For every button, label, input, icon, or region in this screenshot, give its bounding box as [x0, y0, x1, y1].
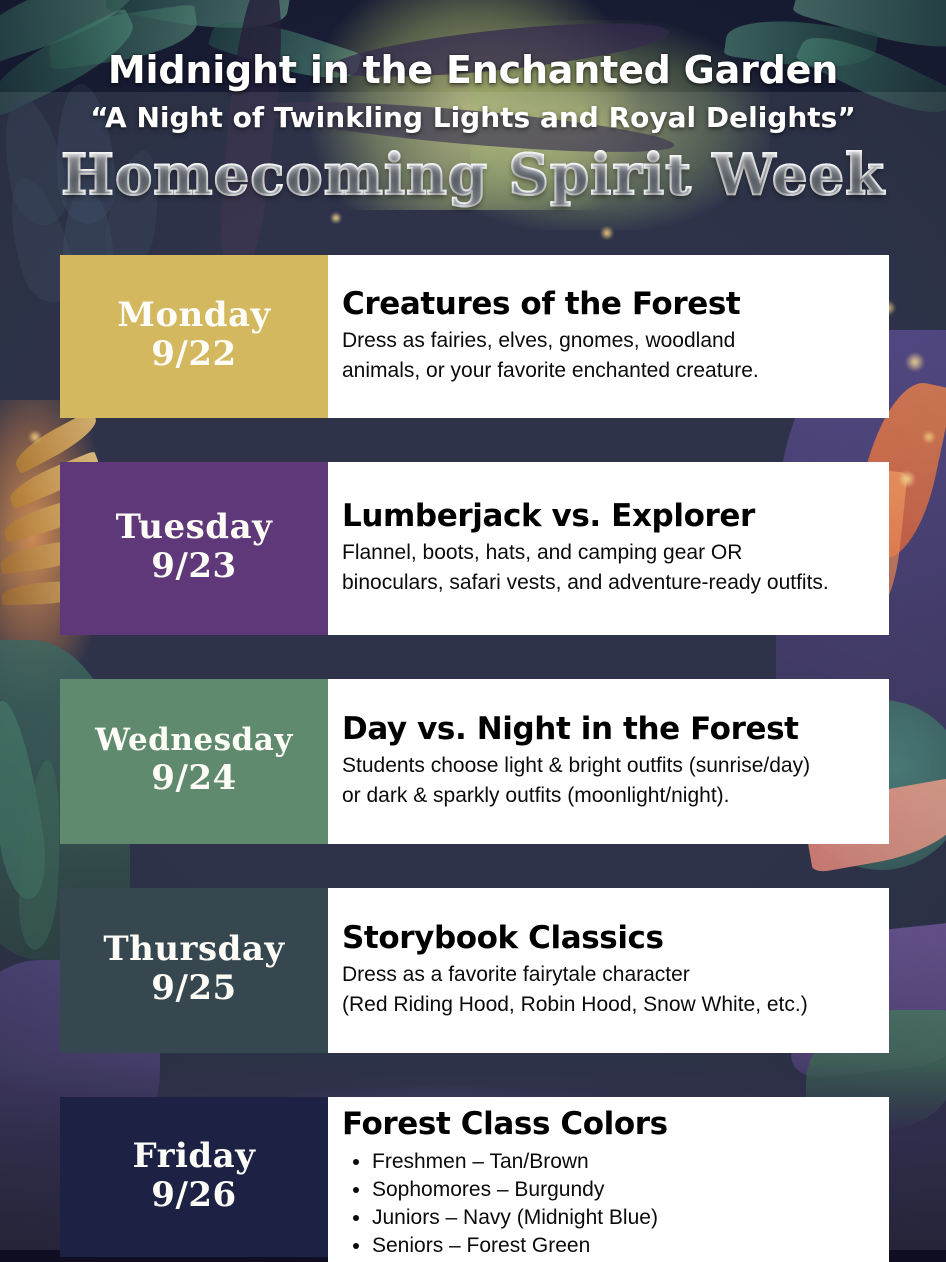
day-label-friday: Friday 9/26	[60, 1097, 328, 1257]
day-details-panel: Day vs. Night in the Forest Students cho…	[328, 679, 889, 844]
spirit-week-schedule: Monday 9/22 Creatures of the Forest Dres…	[60, 255, 889, 1262]
list-item: Freshmen – Tan/Brown	[372, 1148, 871, 1176]
day-date: 9/25	[151, 967, 236, 1010]
day-label-monday: Monday 9/22	[60, 255, 328, 418]
day-date: 9/23	[151, 545, 236, 588]
theme-description-line: binoculars, safari vests, and adventure-…	[342, 568, 871, 598]
day-name: Friday	[133, 1138, 256, 1174]
theme-title: Forest Class Colors	[342, 1107, 871, 1142]
day-name: Thursday	[103, 931, 284, 967]
theme-description-line: Dress as fairies, elves, gnomes, woodlan…	[342, 326, 871, 356]
list-item: Juniors – Navy (Midnight Blue)	[372, 1204, 871, 1232]
poster-title: Midnight in the Enchanted Garden	[0, 0, 946, 92]
theme-description-line: Students choose light & bright outfits (…	[342, 751, 871, 781]
theme-description-line: (Red Riding Hood, Robin Hood, Snow White…	[342, 990, 871, 1020]
day-details-panel: Lumberjack vs. Explorer Flannel, boots, …	[328, 462, 889, 635]
theme-title: Storybook Classics	[342, 921, 871, 956]
day-details-panel: Creatures of the Forest Dress as fairies…	[328, 255, 889, 418]
day-label-thursday: Thursday 9/25	[60, 888, 328, 1053]
theme-description-line: Dress as a favorite fairytale character	[342, 960, 871, 990]
schedule-row: Monday 9/22 Creatures of the Forest Dres…	[60, 255, 889, 418]
day-name: Monday	[117, 297, 271, 333]
day-label-wednesday: Wednesday 9/24	[60, 679, 328, 844]
poster-subtitle: “A Night of Twinkling Lights and Royal D…	[0, 92, 946, 134]
day-date: 9/22	[151, 333, 236, 376]
poster-header: Midnight in the Enchanted Garden “A Nigh…	[0, 0, 946, 208]
day-name: Tuesday	[116, 509, 273, 545]
spirit-week-poster: Midnight in the Enchanted Garden “A Nigh…	[0, 0, 946, 1262]
list-item: Sophomores – Burgundy	[372, 1176, 871, 1204]
day-details-panel: Forest Class Colors Freshmen – Tan/Brown…	[328, 1097, 889, 1262]
theme-title: Day vs. Night in the Forest	[342, 712, 871, 747]
day-label-tuesday: Tuesday 9/23	[60, 462, 328, 635]
schedule-row: Tuesday 9/23 Lumberjack vs. Explorer Fla…	[60, 462, 889, 635]
theme-title: Creatures of the Forest	[342, 287, 871, 322]
theme-description-line: animals, or your favorite enchanted crea…	[342, 356, 871, 386]
schedule-row: Friday 9/26 Forest Class Colors Freshmen…	[60, 1097, 889, 1262]
day-details-panel: Storybook Classics Dress as a favorite f…	[328, 888, 889, 1053]
theme-title: Lumberjack vs. Explorer	[342, 499, 871, 534]
day-name: Wednesday	[95, 724, 293, 757]
class-colors-list: Freshmen – Tan/Brown Sophomores – Burgun…	[342, 1148, 871, 1261]
list-item: Seniors – Forest Green	[372, 1232, 871, 1260]
schedule-row: Thursday 9/25 Storybook Classics Dress a…	[60, 888, 889, 1053]
day-date: 9/26	[151, 1174, 236, 1217]
poster-event-name: Homecoming Spirit Week	[0, 134, 946, 208]
theme-description-line: Flannel, boots, hats, and camping gear O…	[342, 538, 871, 568]
schedule-row: Wednesday 9/24 Day vs. Night in the Fore…	[60, 679, 889, 844]
theme-description-line: or dark & sparkly outfits (moonlight/nig…	[342, 781, 871, 811]
day-date: 9/24	[151, 757, 236, 800]
